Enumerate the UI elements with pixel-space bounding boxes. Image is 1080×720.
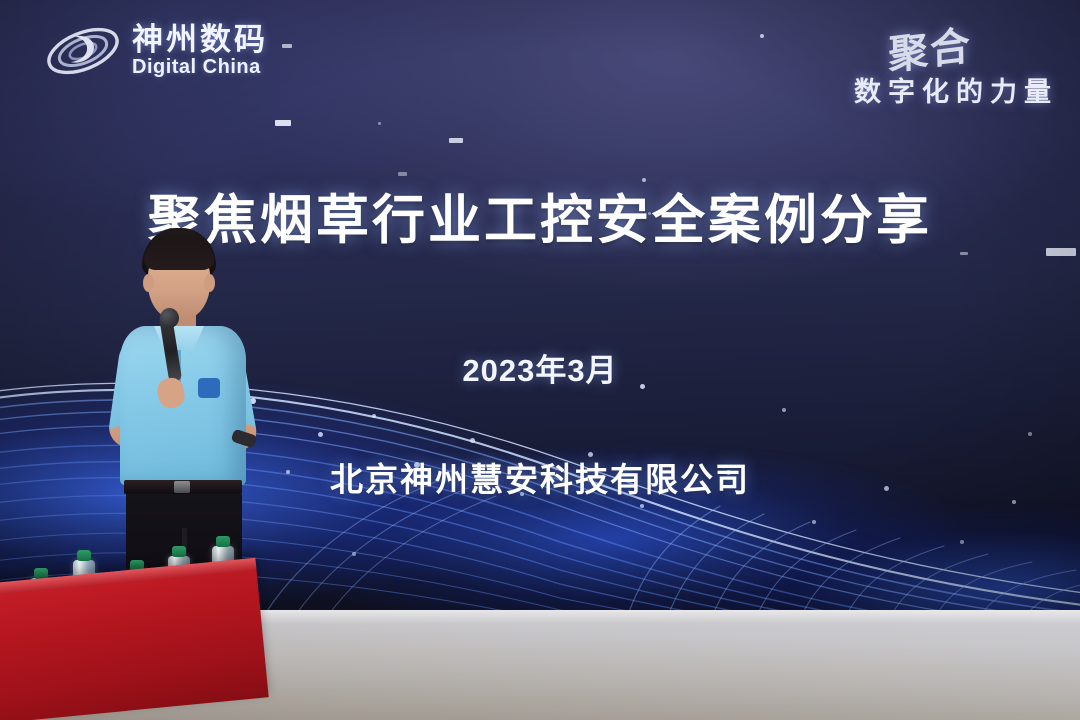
presentation-photo: 神州数码 Digital China 聚合 数字化的力量 聚焦烟草行业工控安全案… (0, 0, 1080, 720)
brand-name-cn: 神州数码 (132, 24, 268, 57)
brand-name-en: Digital China (132, 57, 268, 78)
event-brand-tagline: 数字化的力量 (854, 70, 1058, 109)
red-draped-table (0, 558, 269, 720)
event-brand-script: 聚合 (888, 13, 972, 82)
speaker-ear-left (143, 274, 154, 292)
digital-china-swirl-icon (44, 20, 122, 82)
speaker-ear-right (204, 274, 215, 292)
event-brand-mark: 聚合 数字化的力量 (854, 18, 1058, 109)
digital-china-logo: 神州数码 Digital China (44, 20, 268, 82)
belt-buckle (174, 481, 190, 493)
shirt-logo-icon (198, 378, 220, 398)
speaker-hair-front (144, 238, 214, 270)
speaker-polo-shirt (120, 326, 246, 486)
